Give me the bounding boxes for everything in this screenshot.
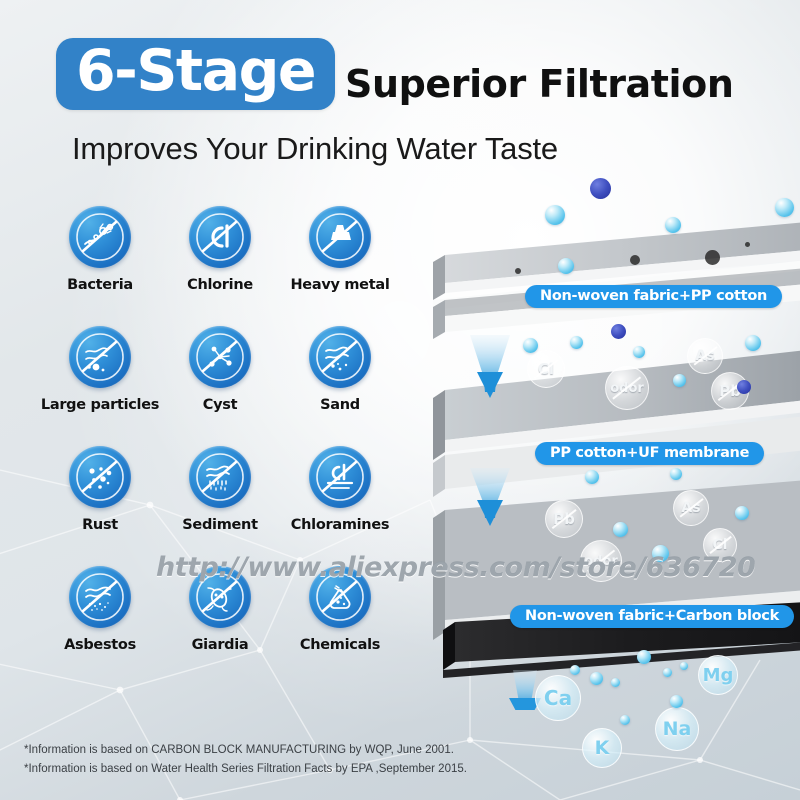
bacteria-cluster bbox=[737, 380, 751, 394]
contaminant-label: Sediment bbox=[155, 517, 285, 533]
water-droplet bbox=[613, 522, 628, 537]
contaminant-label: Cyst bbox=[155, 397, 285, 413]
bacteria-icon bbox=[69, 206, 131, 268]
contaminant-icon-grid: Bacteria Chlorine bbox=[0, 198, 430, 678]
water-droplet bbox=[735, 506, 749, 520]
contaminant-item-rust[interactable]: Rust bbox=[35, 446, 165, 533]
mineral-bubble-mg: Mg bbox=[698, 655, 738, 695]
water-droplet bbox=[590, 672, 603, 685]
water-droplet bbox=[633, 346, 645, 358]
cyst-molecule-icon bbox=[189, 326, 251, 388]
contaminant-label: Chemicals bbox=[275, 637, 405, 653]
particle-speck bbox=[515, 268, 521, 274]
contaminant-item-sediment[interactable]: Sediment bbox=[155, 446, 285, 533]
mineral-bubble-ca: Ca bbox=[535, 675, 581, 721]
contaminant-item-sand[interactable]: Sand bbox=[275, 326, 405, 413]
contaminant-item-chlorine[interactable]: Chlorine bbox=[155, 206, 285, 293]
water-droplet bbox=[680, 662, 688, 670]
particle-speck bbox=[630, 255, 640, 265]
water-droplet bbox=[665, 217, 681, 233]
water-droplet bbox=[523, 338, 538, 353]
mineral-bubble-k: K bbox=[582, 728, 622, 768]
blocked-bubble-pb-2: Pb bbox=[545, 500, 583, 538]
bacteria-cluster bbox=[611, 324, 626, 339]
water-droplet bbox=[570, 665, 580, 675]
water-droplet bbox=[670, 468, 682, 480]
contaminant-item-cyst[interactable]: Cyst bbox=[155, 326, 285, 413]
contaminant-label: Rust bbox=[35, 517, 165, 533]
contaminant-label: Asbestos bbox=[35, 637, 165, 653]
contaminant-label: Large particles bbox=[35, 397, 165, 413]
blocked-bubble-as: As bbox=[687, 338, 723, 374]
contaminant-label: Giardia bbox=[155, 637, 285, 653]
filter-layer-diagram: Non-woven fabric+PP cotton PP cotton+UF … bbox=[415, 150, 800, 710]
water-droplet bbox=[585, 470, 599, 484]
water-droplet bbox=[673, 374, 686, 387]
contaminant-label: Chlorine bbox=[155, 277, 285, 293]
water-droplet bbox=[558, 258, 574, 274]
bacteria-cluster bbox=[590, 178, 611, 199]
contaminant-item-chloramines[interactable]: Chloramines bbox=[275, 446, 405, 533]
contaminant-item-large-particles[interactable]: Large particles bbox=[35, 326, 165, 413]
blocked-bubble-cl: Cl bbox=[527, 350, 565, 388]
water-droplet bbox=[570, 336, 583, 349]
rust-particles-icon bbox=[69, 446, 131, 508]
blocked-bubble-odor: odor bbox=[605, 366, 649, 410]
contaminant-item-bacteria[interactable]: Bacteria bbox=[35, 206, 165, 293]
footnote-1: *Information is based on CARBON BLOCK MA… bbox=[24, 744, 467, 756]
water-droplet bbox=[663, 668, 672, 677]
water-droplet bbox=[775, 198, 794, 217]
contaminant-item-heavy-metal[interactable]: Heavy metal bbox=[275, 206, 405, 293]
contaminant-item-asbestos[interactable]: Asbestos bbox=[35, 566, 165, 653]
chlorine-cl-icon bbox=[189, 206, 251, 268]
layer-1-slab bbox=[433, 222, 800, 339]
water-droplet bbox=[745, 335, 761, 351]
heavy-metal-bars-icon bbox=[309, 206, 371, 268]
asbestos-fibers-icon bbox=[69, 566, 131, 628]
contaminant-label: Chloramines bbox=[275, 517, 405, 533]
mineral-bubble-na: Na bbox=[655, 707, 699, 751]
particle-speck bbox=[745, 242, 750, 247]
large-particles-icon bbox=[69, 326, 131, 388]
contaminant-label: Heavy metal bbox=[275, 277, 405, 293]
water-droplet bbox=[611, 678, 620, 687]
particle-speck bbox=[705, 250, 720, 265]
water-droplet bbox=[670, 695, 683, 708]
chloramines-icon bbox=[309, 446, 371, 508]
contaminant-label: Sand bbox=[275, 397, 405, 413]
stage-badge: 6-Stage bbox=[56, 38, 335, 110]
layer-badge-3: Non-woven fabric+Carbon block bbox=[510, 605, 794, 628]
sediment-icon bbox=[189, 446, 251, 508]
stage-badge-label: 6-Stage bbox=[76, 40, 315, 102]
store-url-watermark: http://www.aliexpress.com/store/636720 bbox=[156, 552, 755, 583]
water-droplet bbox=[545, 205, 565, 225]
page-title: Superior Filtration bbox=[345, 62, 734, 106]
sand-icon bbox=[309, 326, 371, 388]
footnotes: *Information is based on CARBON BLOCK MA… bbox=[24, 744, 467, 782]
water-droplet bbox=[637, 650, 651, 664]
layer-badge-2: PP cotton+UF membrane bbox=[535, 442, 764, 465]
filtration-infographic: 6-Stage Superior Filtration Improves You… bbox=[0, 0, 800, 800]
blocked-bubble-as-2: As bbox=[673, 490, 709, 526]
contaminant-label: Bacteria bbox=[35, 277, 165, 293]
water-droplet bbox=[620, 715, 630, 725]
layer-badge-1: Non-woven fabric+PP cotton bbox=[525, 285, 782, 308]
footnote-2: *Information is based on Water Health Se… bbox=[24, 763, 467, 775]
